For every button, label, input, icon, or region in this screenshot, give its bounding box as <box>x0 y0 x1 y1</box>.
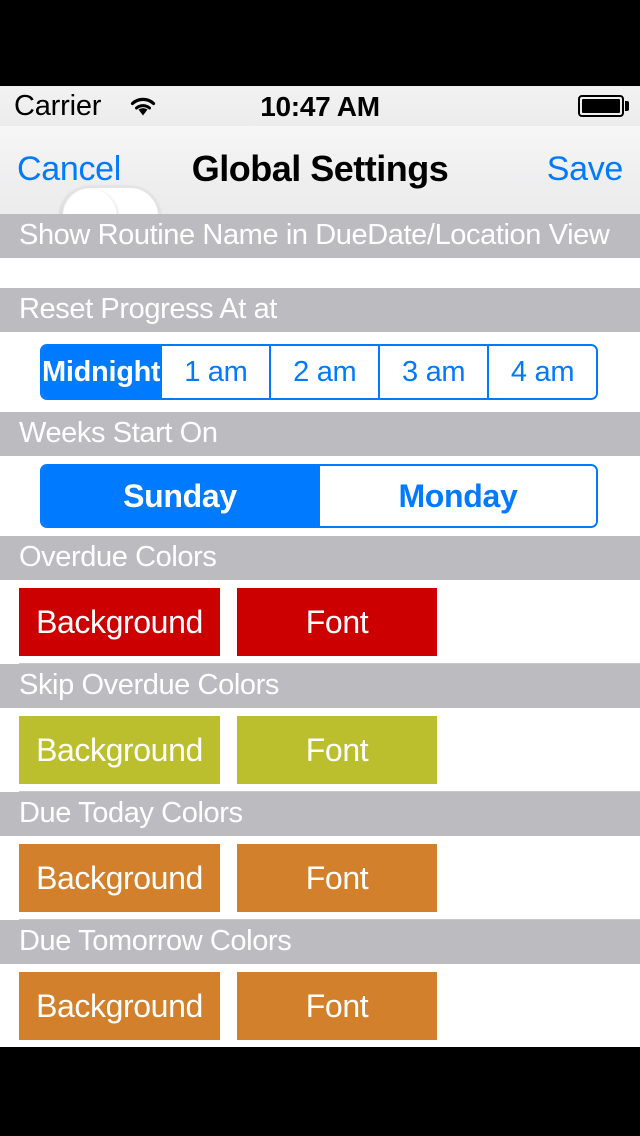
reset-progress-segmented-control[interactable]: Midnight 1 am 2 am 3 am 4 am <box>40 344 598 400</box>
overdue-font-swatch[interactable]: Font <box>237 588 437 656</box>
status-bar: Carrier 10:47 AM <box>0 86 640 126</box>
swatch-label: Background <box>36 604 203 641</box>
spacer-row <box>0 258 640 288</box>
segment-4am[interactable]: 4 am <box>487 346 596 398</box>
section-header-label: Skip Overdue Colors <box>19 669 279 702</box>
section-header-label: Due Tomorrow Colors <box>19 925 291 958</box>
segment-sunday[interactable]: Sunday <box>42 466 318 526</box>
section-header-label: Reset Progress At at <box>19 293 277 326</box>
letterbox-bottom <box>0 1047 640 1136</box>
due-tomorrow-colors-row: Background Font <box>0 964 640 1047</box>
overdue-colors-row: Background Font <box>0 580 640 664</box>
section-header-show-routine-name: Show Routine Name in DueDate/Location Vi… <box>0 214 640 258</box>
section-header-label: Overdue Colors <box>19 541 217 574</box>
skip-overdue-font-swatch[interactable]: Font <box>237 716 437 784</box>
reset-progress-row: Midnight 1 am 2 am 3 am 4 am <box>0 332 640 412</box>
skip-overdue-background-swatch[interactable]: Background <box>19 716 220 784</box>
segment-3am[interactable]: 3 am <box>378 346 487 398</box>
due-today-colors-row: Background Font <box>0 836 640 920</box>
swatch-label: Background <box>36 988 203 1025</box>
section-header-label: Weeks Start On <box>19 417 218 450</box>
letterbox-top <box>0 0 640 86</box>
due-today-font-swatch[interactable]: Font <box>237 844 437 912</box>
weeks-start-on-segmented-control[interactable]: Sunday Monday <box>40 464 598 528</box>
section-header-reset-progress: Reset Progress At at <box>0 288 640 332</box>
swatch-label: Font <box>306 860 368 897</box>
device-screen: Carrier 10:47 AM Cancel Global Settings … <box>0 86 640 1047</box>
swatch-label: Font <box>306 604 368 641</box>
segment-monday[interactable]: Monday <box>318 466 596 526</box>
battery-full-icon <box>578 95 624 117</box>
section-header-label: Show Routine Name in DueDate/Location Vi… <box>19 219 609 252</box>
settings-table: Show Routine Name in DueDate/Location Vi… <box>0 214 640 1047</box>
swatch-label: Background <box>36 860 203 897</box>
swatch-label: Font <box>306 988 368 1025</box>
save-button[interactable]: Save <box>547 150 623 189</box>
section-header-due-tomorrow-colors: Due Tomorrow Colors <box>0 920 640 964</box>
swatch-label: Font <box>306 732 368 769</box>
section-header-label: Due Today Colors <box>19 797 243 830</box>
due-tomorrow-font-swatch[interactable]: Font <box>237 972 437 1040</box>
skip-overdue-colors-row: Background Font <box>0 708 640 792</box>
page-title: Global Settings <box>0 148 640 190</box>
segment-1am[interactable]: 1 am <box>160 346 269 398</box>
segment-2am[interactable]: 2 am <box>269 346 378 398</box>
weeks-start-on-row: Sunday Monday <box>0 456 640 536</box>
due-tomorrow-background-swatch[interactable]: Background <box>19 972 220 1040</box>
section-header-due-today-colors: Due Today Colors <box>0 792 640 836</box>
section-header-skip-overdue-colors: Skip Overdue Colors <box>0 664 640 708</box>
overdue-background-swatch[interactable]: Background <box>19 588 220 656</box>
segment-midnight[interactable]: Midnight <box>42 346 160 398</box>
due-today-background-swatch[interactable]: Background <box>19 844 220 912</box>
battery-cap-icon <box>625 101 629 111</box>
clock-label: 10:47 AM <box>0 91 640 123</box>
section-header-weeks-start-on: Weeks Start On <box>0 412 640 456</box>
section-header-overdue-colors: Overdue Colors <box>0 536 640 580</box>
swatch-label: Background <box>36 732 203 769</box>
